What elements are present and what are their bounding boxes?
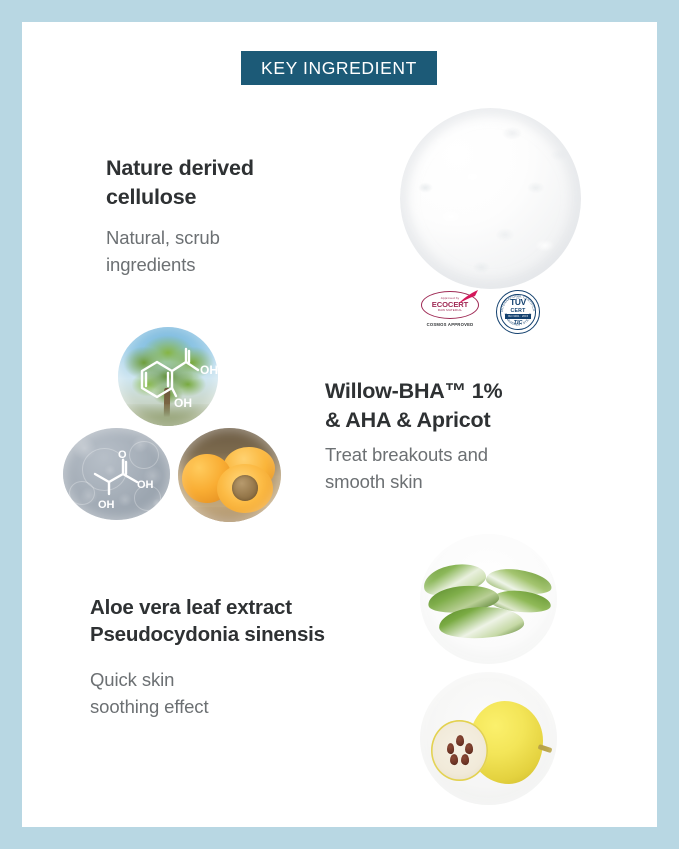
tuv-cert-badge-icon: THE INTERNATIONAL CERTIFICATION MANAGEME… — [496, 290, 540, 334]
ecocert-cosmos-caption: COSMOS APPROVED — [427, 322, 474, 327]
infographic-page: KEY INGREDIENT Nature derived cellulose … — [0, 0, 679, 849]
section-cellulose-text: Nature derived cellulose Natural, scrub … — [106, 154, 321, 278]
lactic-o-label: O — [118, 449, 127, 461]
infographic-canvas: KEY INGREDIENT Nature derived cellulose … — [22, 22, 657, 827]
powder-rim-shadow — [400, 108, 581, 289]
tuv-tic-label: TIC — [514, 320, 523, 326]
tuv-cert-label: CERT — [511, 308, 526, 314]
quince-seed — [465, 743, 473, 754]
section-aloe-text: Aloe vera leaf extract Pseudocydonia sin… — [90, 594, 420, 720]
salicylic-oh-label-1: OH — [200, 363, 218, 377]
ecocert-oval: Approved by ECOCERT RAW MATERIAL — [421, 291, 479, 319]
lactic-oh-label-1: OH — [137, 479, 154, 491]
section-aloe-subtitle: Quick skin soothing effect — [90, 666, 420, 720]
section-cellulose-subtitle: Natural, scrub ingredients — [106, 224, 321, 278]
aha-gel-image: O OH OH — [63, 428, 170, 520]
ecocert-badge-icon: Approved by ECOCERT RAW MATERIAL COSMOS … — [418, 291, 482, 333]
cellulose-powder-image — [400, 108, 581, 289]
quince-half — [431, 720, 489, 781]
apricot-image — [178, 428, 281, 522]
tuv-standard-label: ISO 9001 : 2015 — [505, 314, 530, 318]
section-bha-title: Willow-BHA™ 1% & AHA & Apricot — [325, 377, 560, 435]
quince-seed — [447, 743, 455, 754]
certification-badges: Approved by ECOCERT RAW MATERIAL COSMOS … — [418, 290, 564, 334]
section-aloe-title: Aloe vera leaf extract Pseudocydonia sin… — [90, 594, 420, 648]
quince-fruit-image — [420, 672, 557, 805]
section-cellulose-title: Nature derived cellulose — [106, 154, 321, 212]
section-bha-text: Willow-BHA™ 1% & AHA & Apricot Treat bre… — [325, 377, 560, 495]
section-bha-subtitle: Treat breakouts and smooth skin — [325, 441, 560, 495]
salicylic-acid-molecule-icon: OH OH — [118, 327, 218, 426]
salicylic-oh-label-2: OH — [174, 396, 192, 410]
banner-label: KEY INGREDIENT — [261, 58, 417, 79]
quince-seed — [456, 735, 464, 746]
aloe-vera-image — [420, 534, 557, 664]
lactic-acid-molecule-icon: O OH OH — [63, 428, 170, 520]
quince-seed — [462, 754, 470, 765]
ecocert-qualifier-label: RAW MATERIAL — [438, 309, 462, 313]
lactic-oh-label-2: OH — [98, 499, 115, 511]
key-ingredient-banner: KEY INGREDIENT — [241, 51, 437, 85]
quince-seed — [450, 754, 458, 765]
quince-seed-core — [445, 735, 475, 767]
tuv-name-label: TÜV — [510, 298, 526, 307]
willow-tree-image: OH OH — [118, 327, 218, 426]
